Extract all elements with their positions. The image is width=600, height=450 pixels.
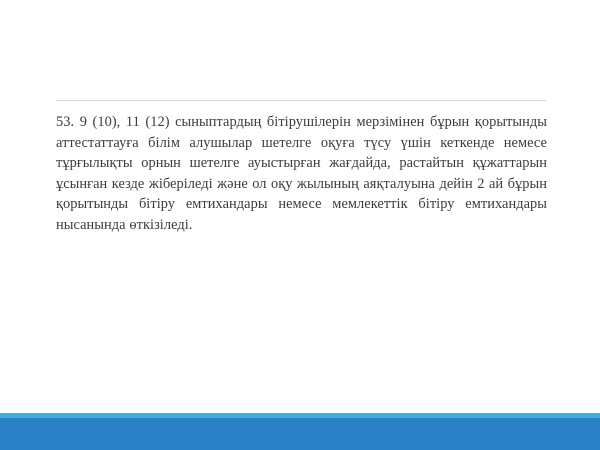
- footer-bar: [0, 418, 600, 450]
- slide: 53. 9 (10), 11 (12) сыныптардың бітіруші…: [0, 0, 600, 450]
- slide-content-area: 53. 9 (10), 11 (12) сыныптардың бітіруші…: [56, 100, 547, 236]
- slide-body-text: 53. 9 (10), 11 (12) сыныптардың бітіруші…: [56, 112, 547, 236]
- content-top-divider: [56, 100, 547, 101]
- slide-footer: [0, 413, 600, 450]
